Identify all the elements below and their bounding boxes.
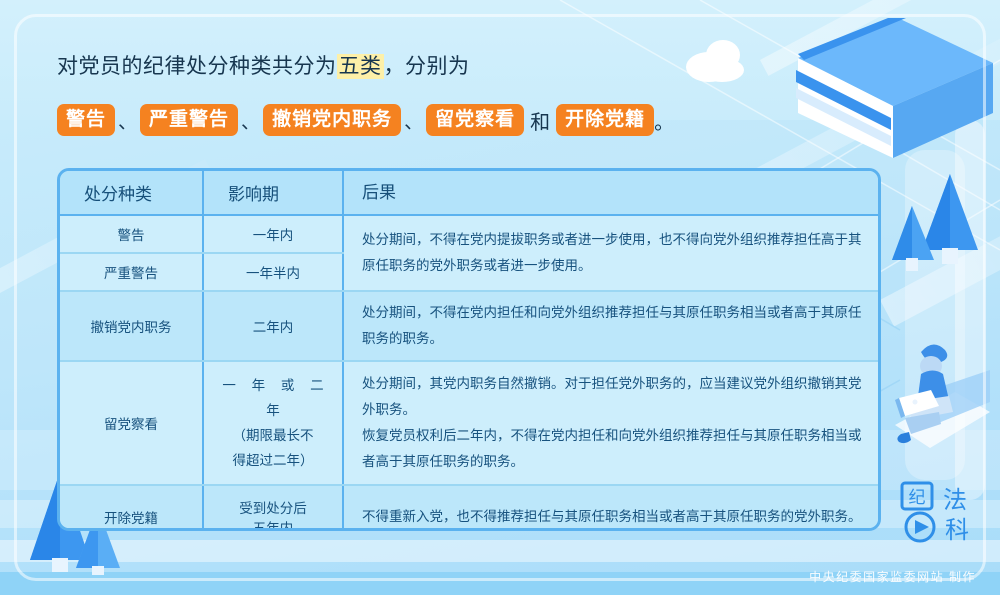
table-row: 留党察看 一 年 或 二 年 （期限最长不 得超过二年） 处分期间，其党内职务自…: [60, 361, 878, 485]
cell-period: 二年内: [203, 291, 343, 361]
cell-period: 一年内: [203, 215, 343, 253]
column-header-type: 处分种类: [60, 171, 203, 215]
bg-panel: [955, 120, 985, 500]
brand-logo: 纪 法 科: [900, 481, 978, 543]
column-header-period: 影响期: [203, 171, 343, 215]
cell-period: 受到处分后 五年内: [203, 485, 343, 531]
punishment-tag-probation: 留党察看: [426, 104, 524, 136]
cell-type: 警告: [60, 215, 203, 253]
book-illustration: [778, 18, 998, 178]
footer-credit: 中央纪委国家监委网站 制作: [809, 568, 976, 585]
headline-line-1: 对党员的纪律处分种类共分为五类，分别为: [57, 48, 757, 86]
headline-terminator: 。: [654, 106, 674, 135]
table-row: 撤销党内职务 二年内 处分期间，不得在党内担任和向党外组织推荐担任与其原任职务相…: [60, 291, 878, 361]
logo-char-3: 科: [945, 517, 969, 543]
bg-stripe: [0, 540, 1000, 562]
bg-diagonal-band: [880, 131, 1000, 326]
headline-line-2: 警告、严重警告、撤销党内职务、留党察看和开除党籍。: [57, 104, 674, 136]
cell-type: 留党察看: [60, 361, 203, 485]
punishment-tag-warning: 警告: [57, 104, 115, 136]
cell-consequence: 不得重新入党，也不得推荐担任与其原任职务相当或者高于其原任职务的党外职务。: [343, 485, 878, 531]
tag-separator: 、: [238, 107, 263, 134]
cell-type: 严重警告: [60, 253, 203, 291]
cell-period-line: 得超过二年）: [216, 448, 330, 473]
cell-period-line: 受到处分后: [216, 497, 330, 517]
cell-consequence: 处分期间，不得在党内提拔职务或者进一步使用，也不得向党外组织推荐担任高于其原任职…: [343, 215, 878, 291]
punishment-table: 处分种类 影响期 后果 警告 一年内 处分期间，不得在党内提拔职务或者进一步使用…: [57, 168, 881, 531]
bg-diagonal-band: [760, 0, 1000, 76]
punishment-tag-remove-post: 撤销党内职务: [263, 104, 401, 136]
headline-lead: 对党员的纪律处分种类共分为: [57, 55, 337, 78]
cell-consequence: 处分期间，其党内职务自然撤销。对于担任党外职务的，应当建议党外组织撤销其党外职务…: [343, 361, 878, 485]
table-row: 开除党籍 受到处分后 五年内 不得重新入党，也不得推荐担任与其原任职务相当或者高…: [60, 485, 878, 531]
punishment-tag-serious-warning: 严重警告: [140, 104, 238, 136]
cell-period-line: 一 年 或 二 年: [216, 373, 330, 423]
cell-period-line: 五年内: [216, 517, 330, 532]
pine-tree-icon: [890, 172, 1000, 282]
table-row: 警告 一年内 处分期间，不得在党内提拔职务或者进一步使用，也不得向党外组织推荐担…: [60, 215, 878, 253]
person-with-laptop-illustration: [895, 330, 990, 465]
headline-after: ，分别为: [384, 55, 470, 78]
tag-conjunction: 和: [524, 106, 556, 135]
cell-period: 一 年 或 二 年 （期限最长不 得超过二年）: [203, 361, 343, 485]
tag-separator: 、: [115, 107, 140, 134]
cell-type: 撤销党内职务: [60, 291, 203, 361]
logo-char-1: 纪: [909, 488, 926, 507]
table-header-row: 处分种类 影响期 后果: [60, 171, 878, 215]
cell-consequence: 处分期间，不得在党内担任和向党外组织推荐担任与其原任职务相当或者高于其原任职务的…: [343, 291, 878, 361]
logo-char-2: 法: [943, 487, 967, 514]
infographic-canvas: 对党员的纪律处分种类共分为五类，分别为 警告、严重警告、撤销党内职务、留党察看和…: [0, 0, 1000, 595]
cell-period-line: （期限最长不: [216, 423, 330, 448]
headline-highlight: 五类: [337, 54, 384, 79]
cell-period: 一年半内: [203, 253, 343, 291]
tag-separator: 、: [401, 107, 426, 134]
cell-type: 开除党籍: [60, 485, 203, 531]
bg-panel: [905, 150, 965, 480]
column-header-consequence: 后果: [343, 171, 878, 215]
punishment-tag-expulsion: 开除党籍: [556, 104, 654, 136]
